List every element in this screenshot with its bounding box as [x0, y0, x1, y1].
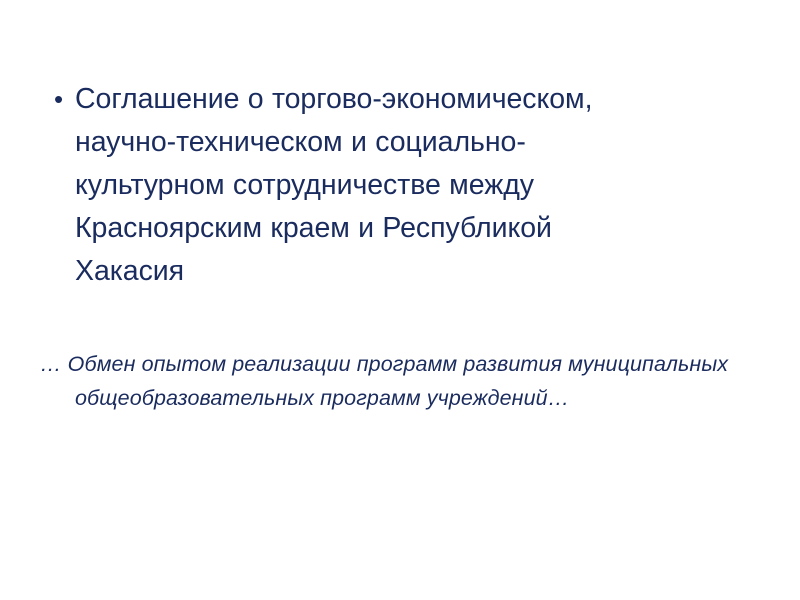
title-bullet-block: • Соглашение о торгово-экономическом, на… — [44, 78, 756, 293]
slide-title-text: Соглашение о торгово-экономическом, науч… — [75, 78, 756, 293]
bullet-dot-icon: • — [44, 78, 75, 121]
slide-canvas: • Соглашение о торгово-экономическом, на… — [0, 0, 800, 600]
note-paragraph-text: … Обмен опытом реализации программ разви… — [40, 348, 756, 415]
note-paragraph-block: … Обмен опытом реализации программ разви… — [40, 348, 756, 415]
bullet-list-item: • Соглашение о торгово-экономическом, на… — [44, 78, 756, 293]
